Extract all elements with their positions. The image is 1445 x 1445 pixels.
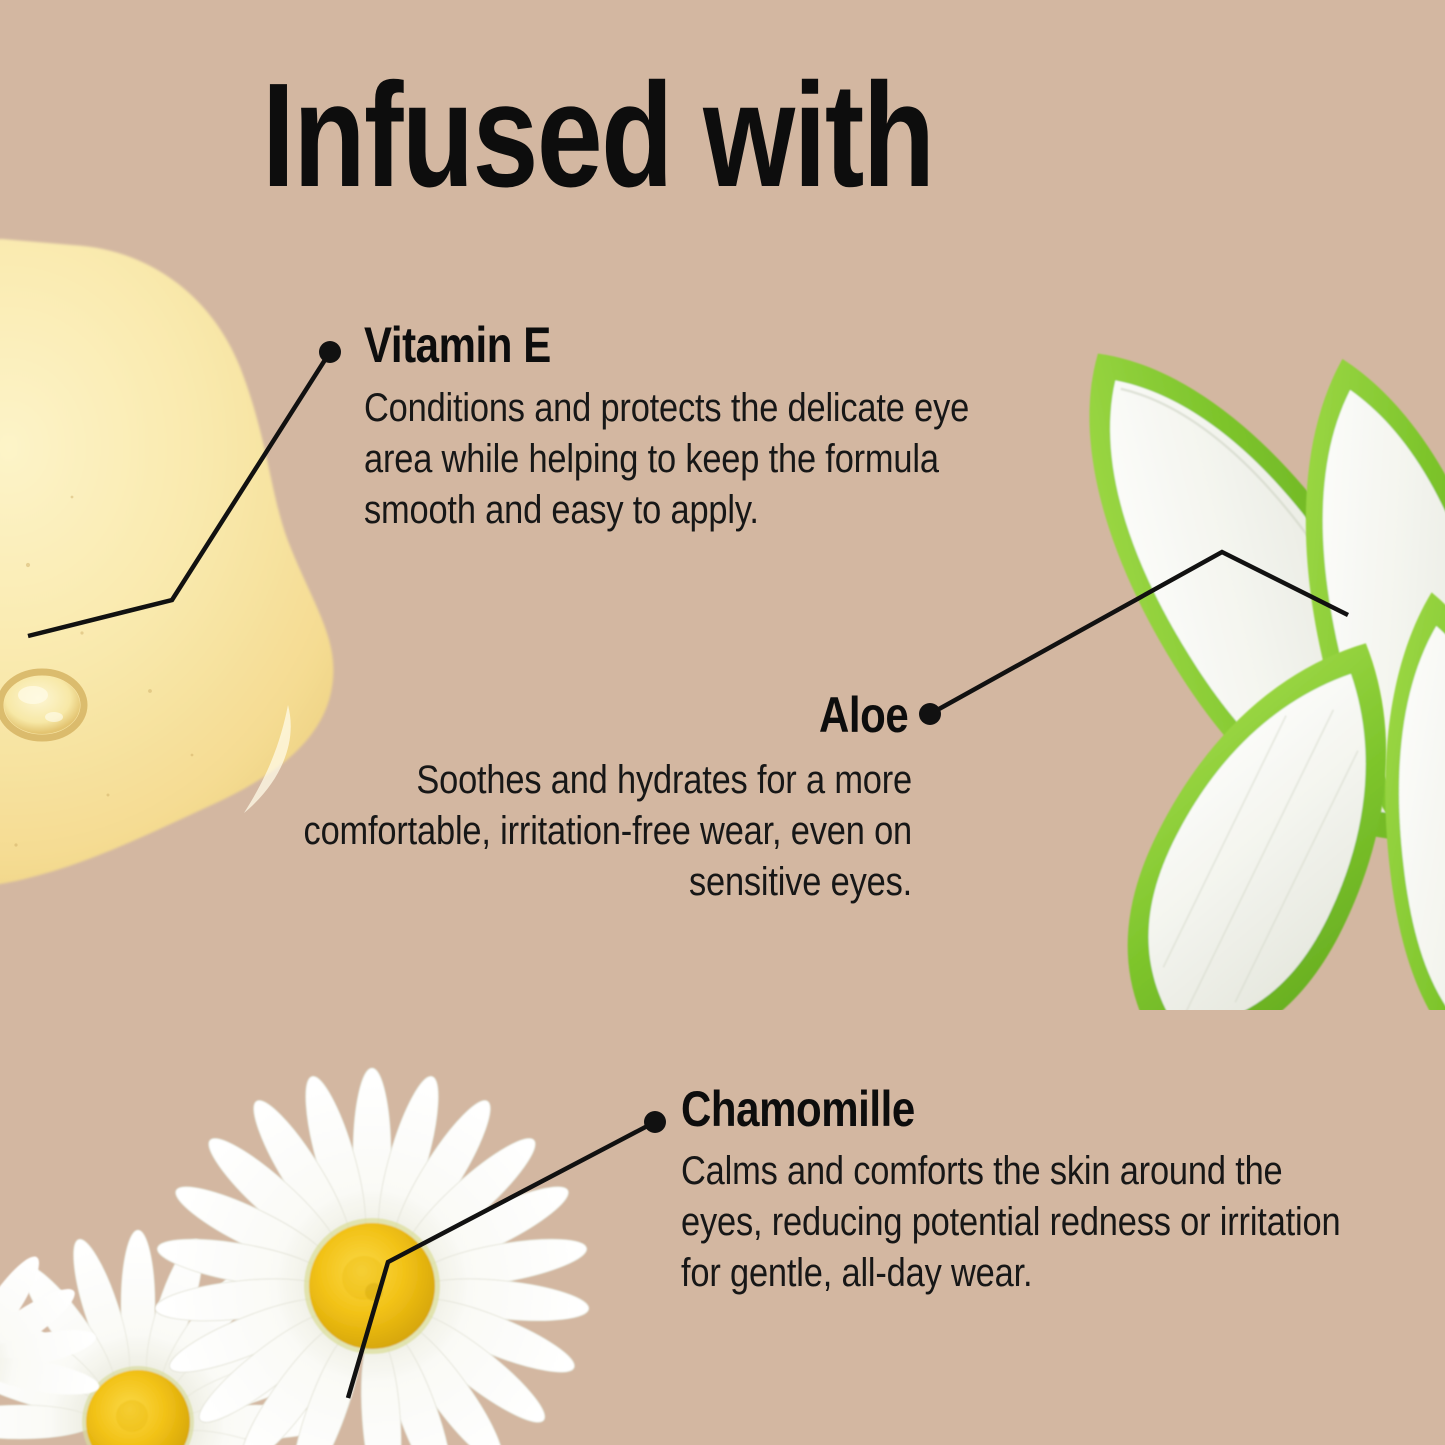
callout-dot-aloe — [919, 703, 941, 725]
ingredient-title-vitamin-e: Vitamin E — [364, 320, 551, 370]
infused-with-infographic: Infused with Vitamin E Conditions and pr… — [0, 0, 1445, 1445]
chamomile-flowers-image — [0, 1040, 680, 1445]
ingredient-description-vitamin-e: Conditions and protects the delicate eye… — [364, 383, 1043, 535]
ingredient-title-aloe: Aloe — [819, 690, 908, 740]
ingredient-title-chamomille: Chamomille — [681, 1084, 915, 1134]
callout-dot-vitamin-e — [319, 341, 341, 363]
leader-line-vitamin-e — [28, 352, 330, 636]
ingredient-description-chamomille: Calms and comforts the skin around the e… — [681, 1146, 1369, 1298]
ingredient-description-aloe: Soothes and hydrates for a more comforta… — [258, 755, 912, 907]
page-title: Infused with — [262, 62, 933, 210]
aloe-leaves-image — [1015, 290, 1445, 1010]
callout-dot-chamomille — [644, 1111, 666, 1133]
leader-line-chamomille — [348, 1122, 655, 1398]
leader-line-aloe — [930, 552, 1348, 714]
